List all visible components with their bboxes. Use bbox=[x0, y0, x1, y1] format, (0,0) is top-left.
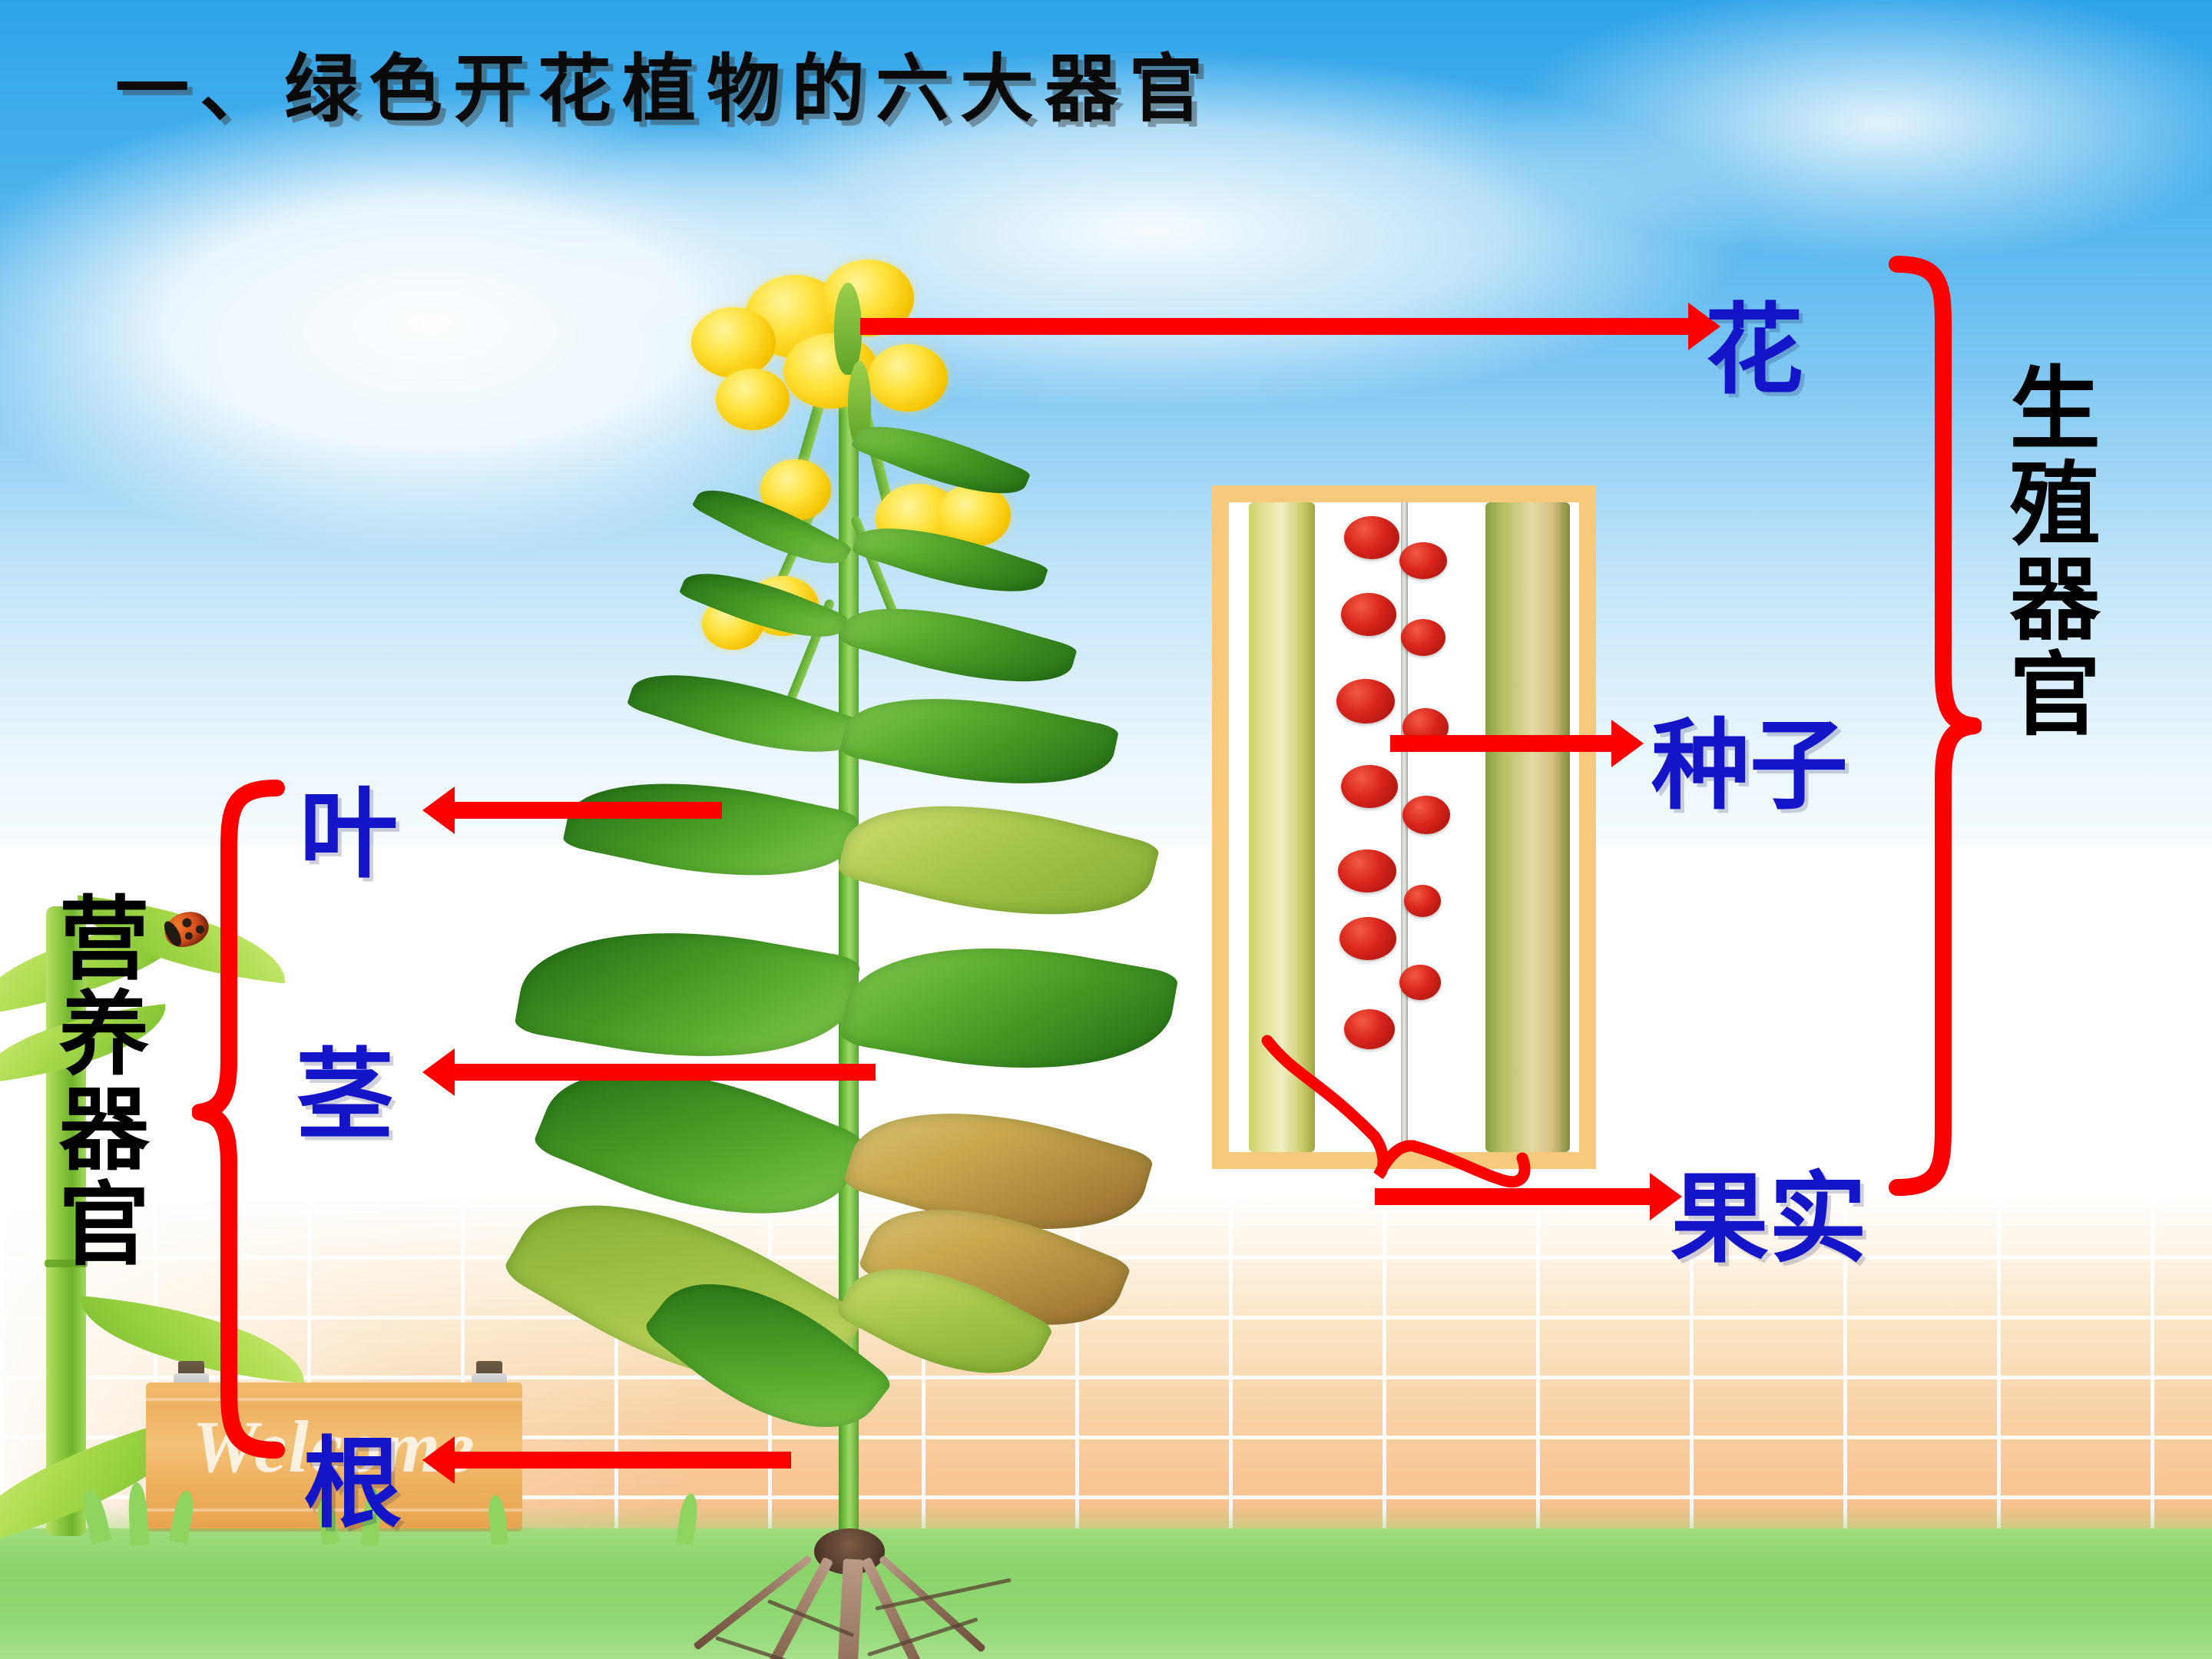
label-leaf: 叶 bbox=[300, 754, 398, 896]
plant-leaf bbox=[836, 771, 1161, 950]
flower-cluster bbox=[868, 344, 948, 412]
pod-seed bbox=[1344, 516, 1399, 559]
pod-seed bbox=[1402, 796, 1450, 834]
pod-seed bbox=[1401, 619, 1445, 656]
flower-cluster bbox=[716, 369, 790, 430]
pod-seed bbox=[1338, 849, 1396, 892]
arrow-to-seed-label bbox=[1390, 735, 1613, 752]
vegetative-group-brace bbox=[192, 777, 307, 1461]
label-fruit: 果实 bbox=[1671, 1139, 1867, 1281]
rootlet bbox=[875, 1578, 1011, 1611]
plant-leaf bbox=[839, 672, 1119, 810]
plant-leaf bbox=[839, 918, 1179, 1098]
pod-seed bbox=[1339, 917, 1396, 960]
pod-seed bbox=[1341, 593, 1396, 636]
reproductive-group-brace bbox=[1866, 253, 1982, 1198]
plant-leaf bbox=[626, 650, 863, 778]
group-label-vegetative: 营养器官 bbox=[48, 891, 144, 1272]
pod-seed bbox=[1341, 765, 1398, 808]
pod-seed bbox=[1404, 885, 1441, 917]
fruit-connector-squiggle bbox=[1221, 1022, 1636, 1198]
flower-cluster bbox=[691, 307, 776, 378]
pod-seed bbox=[1399, 965, 1441, 1000]
page-title: 一、绿色开花植物的六大器官 bbox=[115, 29, 1214, 136]
pod-seed bbox=[1336, 679, 1395, 724]
plant-illustration bbox=[538, 253, 1229, 1636]
label-root: 根 bbox=[303, 1404, 402, 1546]
plant-leaf bbox=[839, 584, 1078, 707]
label-flower: 花 bbox=[1705, 270, 1803, 412]
slide-canvas: Welcome 一、绿色开花植物的六大器官 bbox=[0, 0, 2212, 1659]
arrow-to-leaf-label bbox=[453, 802, 722, 819]
group-label-reproductive: 生殖器官 bbox=[1998, 361, 2094, 742]
plant-leaf bbox=[562, 755, 859, 904]
label-stem: 茎 bbox=[296, 1015, 394, 1157]
plant-leaf bbox=[514, 902, 862, 1088]
arrow-to-stem-label bbox=[453, 1064, 876, 1081]
arrow-to-root-label bbox=[453, 1452, 791, 1469]
plant-leaf bbox=[678, 555, 848, 657]
arrow-to-flower-label bbox=[860, 318, 1690, 335]
label-seed: 种子 bbox=[1651, 686, 1848, 828]
pod-seed bbox=[1399, 542, 1447, 579]
